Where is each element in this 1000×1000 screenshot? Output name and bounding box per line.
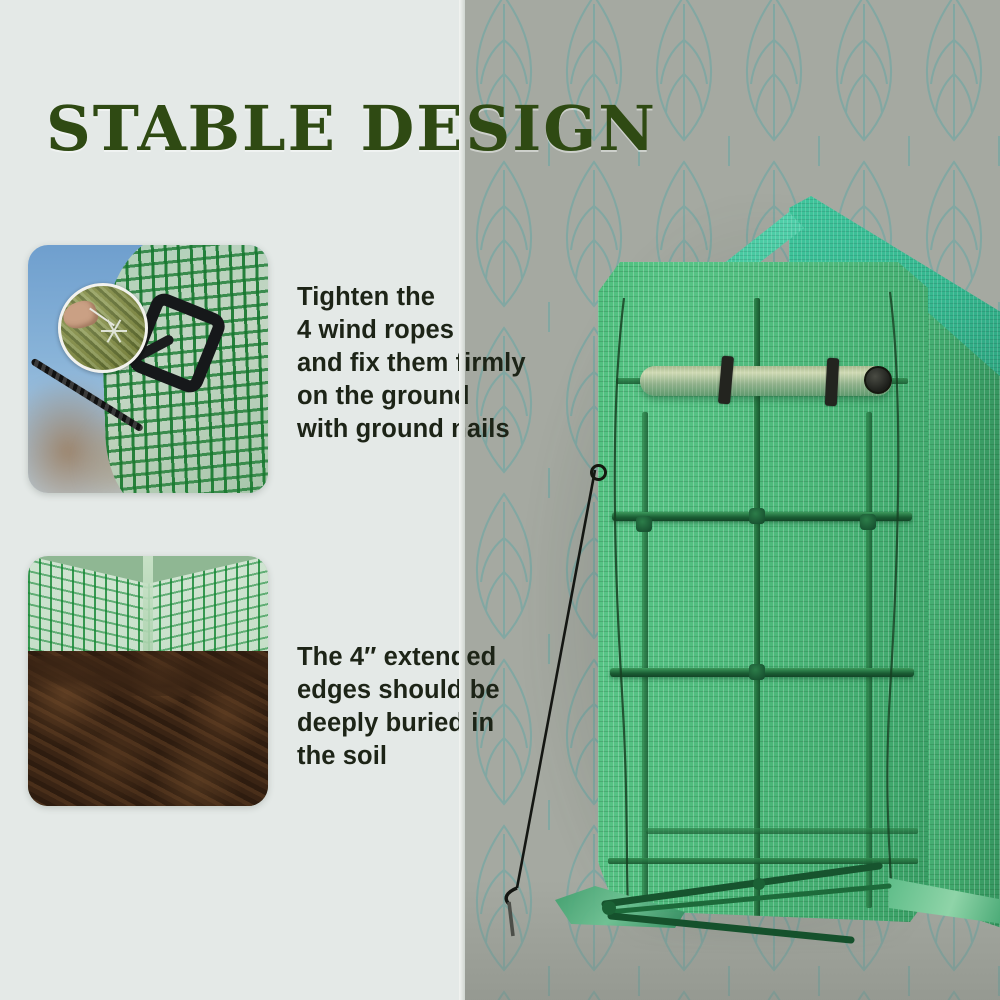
buried-edge-photo	[28, 556, 268, 806]
product-photo-panel	[459, 0, 1000, 1000]
hand	[60, 297, 100, 332]
infographic-canvas: STABLE DESIGN Tighten the 4 wind ropes a	[0, 0, 1000, 1000]
instructions-panel: STABLE DESIGN Tighten the 4 wind ropes a	[0, 0, 459, 1000]
rope-and-buckle-photo	[28, 245, 268, 493]
base-frame-rails	[459, 0, 1000, 1000]
rope-anchor-ring	[590, 464, 607, 481]
soil-surface-edge	[28, 656, 268, 696]
walk-in-greenhouse-photo	[459, 0, 1000, 1000]
ground-nail-inset	[58, 283, 148, 373]
